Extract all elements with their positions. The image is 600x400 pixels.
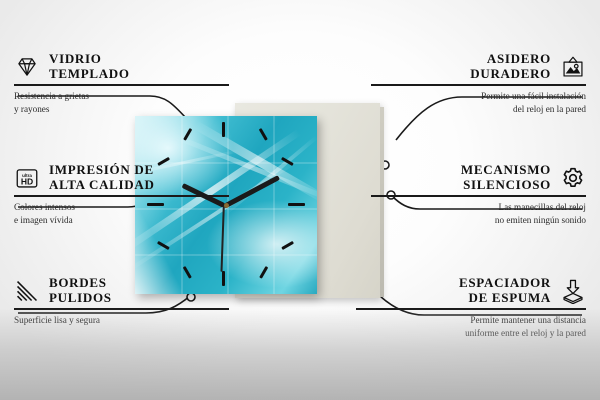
- infographic-canvas: VIDRIO TEMPLADO Resistencia a grietas y …: [0, 0, 600, 400]
- svg-text:HD: HD: [21, 176, 33, 186]
- feature-title-line1: VIDRIO: [49, 52, 130, 67]
- feature-desc-line1: Las manecillas del reloj: [371, 201, 586, 213]
- feature-espaciador-espuma[interactable]: ESPACIADOR DE ESPUMA Permite mantener un…: [356, 276, 586, 339]
- feature-desc-line1: Resistencia a grietas: [14, 90, 229, 102]
- feature-title-line1: MECANISMO: [461, 163, 551, 178]
- feature-title-line1: IMPRESIÓN DE: [49, 163, 155, 178]
- feature-vidrio-templado[interactable]: VIDRIO TEMPLADO Resistencia a grietas y …: [14, 52, 229, 115]
- feature-rule: [356, 308, 586, 310]
- feature-description: Resistencia a grietas y rayones: [14, 90, 229, 115]
- arrow-onto-layers-icon: [560, 278, 586, 304]
- feature-rule: [14, 308, 229, 310]
- feature-rule: [371, 84, 586, 86]
- feature-title-line1: ESPACIADOR: [459, 276, 551, 291]
- feature-description: Permite mantener una distancia uniforme …: [356, 314, 586, 339]
- feature-asidero-duradero[interactable]: ASIDERO DURADERO Permite una fácil insta…: [371, 52, 586, 115]
- feature-title-line1: BORDES: [49, 276, 112, 291]
- clock-tick: [222, 122, 225, 137]
- feature-title-line1: ASIDERO: [470, 52, 551, 67]
- feature-desc-line2: e imagen vívida: [14, 214, 229, 226]
- feature-bordes-pulidos[interactable]: BORDES PULIDOS Superficie lisa y segura: [14, 276, 229, 327]
- hanging-frame-icon: [560, 54, 586, 80]
- diagonal-lines-icon: [14, 278, 40, 304]
- feature-rule: [14, 195, 229, 197]
- feature-desc-line1: Permite mantener una distancia: [356, 314, 586, 326]
- feature-title-line2: TEMPLADO: [49, 67, 130, 82]
- feature-desc-line1: Colores intensos: [14, 201, 229, 213]
- feature-rule: [14, 84, 229, 86]
- feature-rule: [371, 195, 586, 197]
- feature-impresion-alta-calidad[interactable]: ultra HD IMPRESIÓN DE ALTA CALIDAD Color…: [14, 163, 229, 226]
- feature-title-line2: SILENCIOSO: [461, 178, 551, 193]
- feature-desc-line1: Permite una fácil instalación: [371, 90, 586, 102]
- feature-description: Colores intensos e imagen vívida: [14, 201, 229, 226]
- feature-mecanismo-silencioso[interactable]: MECANISMO SILENCIOSO Las manecillas del …: [371, 163, 586, 226]
- feature-desc-line1: Superficie lisa y segura: [14, 314, 229, 326]
- feature-description: Permite una fácil instalación del reloj …: [371, 90, 586, 115]
- feature-title-line2: DURADERO: [470, 67, 551, 82]
- clock-tick: [288, 203, 305, 206]
- ultra-hd-badge-icon: ultra HD: [14, 165, 40, 191]
- diamond-icon: [14, 54, 40, 80]
- feature-description: Superficie lisa y segura: [14, 314, 229, 326]
- gear-icon: [560, 165, 586, 191]
- feature-title-line2: DE ESPUMA: [459, 291, 551, 306]
- feature-desc-line2: no emiten ningún sonido: [371, 214, 586, 226]
- feature-description: Las manecillas del reloj no emiten ningú…: [371, 201, 586, 226]
- feature-title-line2: PULIDOS: [49, 291, 112, 306]
- feature-desc-line2: del reloj en la pared: [371, 103, 586, 115]
- feature-title-line2: ALTA CALIDAD: [49, 178, 155, 193]
- feature-desc-line2: uniforme entre el reloj y la pared: [356, 327, 586, 339]
- feature-desc-line2: y rayones: [14, 103, 229, 115]
